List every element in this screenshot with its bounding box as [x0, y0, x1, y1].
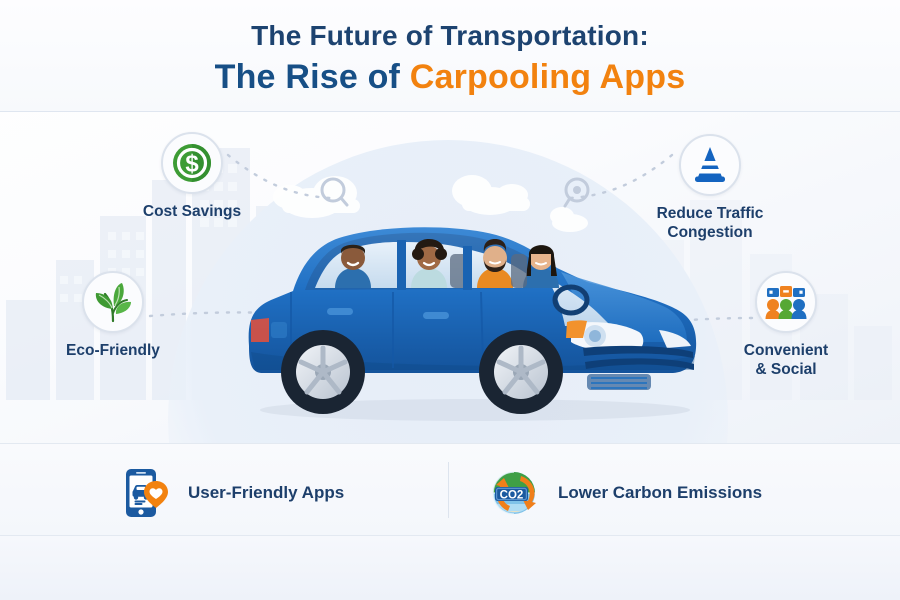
person-blue	[792, 299, 807, 319]
page-title-accent: Carpooling Apps	[410, 58, 686, 96]
page-title: The Rise of Carpooling Apps	[0, 58, 900, 97]
band-divider	[448, 462, 449, 518]
footer-area	[0, 536, 900, 600]
rear-wheel	[281, 330, 365, 414]
leaves-icon	[92, 281, 134, 323]
co2-globe-recycle-icon: CO2	[488, 466, 542, 520]
svg-text:CO2: CO2	[500, 489, 524, 501]
feature-eco-friendly[interactable]: Eco-Friendly	[82, 271, 144, 361]
feature-badge	[82, 271, 144, 333]
feature-reduce-traffic[interactable]: Reduce Traffic Congestion	[679, 134, 741, 243]
feature-badge: $	[161, 132, 223, 194]
front-wheel	[479, 330, 563, 414]
feature-label: Convenient & Social	[686, 342, 886, 380]
bottom-item-user-friendly-apps[interactable]: User-Friendly Apps	[118, 466, 344, 520]
feature-convenient-social[interactable]: Convenient & Social	[755, 271, 817, 380]
header-bar: The Future of Transportation: The Rise o…	[0, 0, 900, 112]
feature-label: Reduce Traffic Congestion	[610, 205, 810, 243]
feature-label: Eco-Friendly	[13, 342, 213, 361]
bottom-item-label: User-Friendly Apps	[188, 483, 344, 503]
smartphone-car-pin-icon	[118, 466, 172, 520]
bottom-item-label: Lower Carbon Emissions	[558, 483, 762, 503]
traffic-cone-icon	[689, 144, 731, 186]
feature-label: Cost Savings	[102, 203, 282, 222]
feature-badge	[679, 134, 741, 196]
page-title-prefix: The Rise of	[215, 58, 410, 96]
person-orange	[766, 299, 781, 319]
svg-text:$: $	[185, 151, 199, 178]
dollar-sign-icon: $	[171, 142, 213, 184]
person-green	[779, 299, 794, 319]
page-subtitle: The Future of Transportation:	[0, 20, 900, 52]
car-row-top	[767, 286, 805, 297]
bottom-item-lower-carbon-emissions[interactable]: CO2 Lower Carbon Emissions	[488, 466, 762, 520]
feature-cost-savings[interactable]: $ Cost Savings	[161, 132, 223, 222]
infographic-canvas: The Future of Transportation: The Rise o…	[0, 0, 900, 600]
feature-badge	[755, 271, 817, 333]
people-group-icon	[764, 280, 808, 324]
